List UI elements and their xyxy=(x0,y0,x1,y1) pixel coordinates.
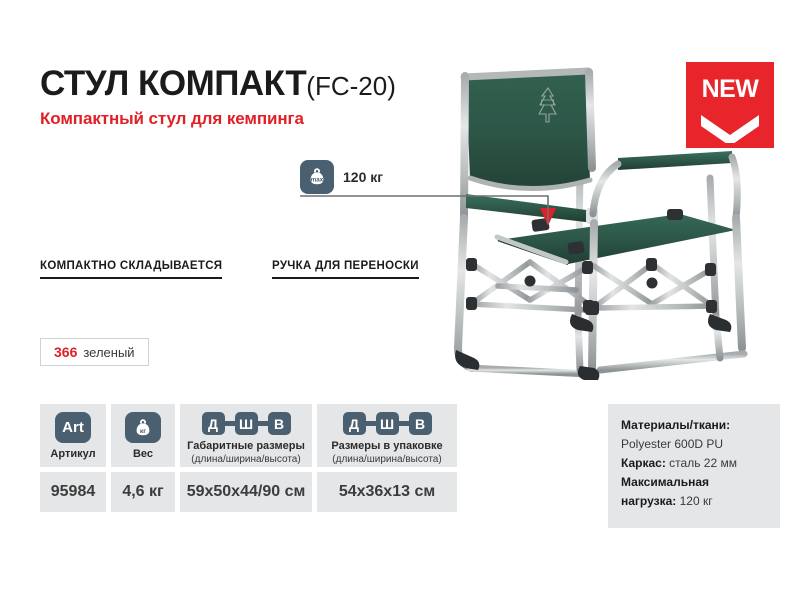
feature-label-carry-handle: РУЧКА ДЛЯ ПЕРЕНОСКИ xyxy=(272,260,419,279)
chair-base-rails xyxy=(470,318,744,374)
max-weight-icon: max xyxy=(300,160,334,194)
product-model: (FC-20) xyxy=(306,71,396,101)
spec-caption-dimensions-text: Габаритные размеры xyxy=(187,440,305,452)
chair-armrest-right xyxy=(618,151,732,170)
maxload-panel-value: 120 кг xyxy=(680,494,713,508)
dwh-link-1 xyxy=(366,421,376,426)
maxload-label-line1: Максимальная xyxy=(621,473,780,492)
color-code: 366 xyxy=(54,344,77,360)
spec-subcaption-packed: (длина/ширина/высота) xyxy=(331,454,442,466)
kettlebell-icon: кг xyxy=(125,412,161,443)
frame-value: сталь 22 мм xyxy=(669,456,737,470)
dwh-letter-length: Д xyxy=(202,412,225,435)
dwh-letter-height: В xyxy=(268,412,291,435)
chair-seat xyxy=(497,209,736,264)
new-badge: NEW xyxy=(686,62,774,148)
product-spec-sheet: СТУЛ КОМПАКТ(FC-20) Компактный стул для … xyxy=(0,0,800,600)
materials-panel: Материалы/ткани: Polyester 600D PU Карка… xyxy=(608,404,780,528)
dwh-link-2 xyxy=(258,421,268,426)
page-title: СТУЛ КОМПАКТ(FC-20) xyxy=(40,66,470,101)
materials-value: Polyester 600D PU xyxy=(621,435,780,454)
dwh-link-1 xyxy=(225,421,235,426)
spec-value-weight: 4,6 кг xyxy=(111,472,175,512)
spec-caption-article: Артикул xyxy=(50,448,95,461)
dwh-link-2 xyxy=(399,421,409,426)
spec-value-dimensions: 59x50x44/90 см xyxy=(180,472,312,512)
spec-header-article: Art Артикул xyxy=(40,404,106,467)
length-width-height-icon: Д Ш В xyxy=(202,412,291,435)
spec-table: Art Артикул кг Вес xyxy=(40,404,457,512)
weight-icon-text: кг xyxy=(140,427,146,434)
spec-value-packed: 54x36x13 см xyxy=(317,472,457,512)
max-load-callout: max 120 кг xyxy=(300,160,383,194)
dwh-letter-length: Д xyxy=(343,412,366,435)
spec-table-value-row: 95984 4,6 кг 59x50x44/90 см 54x36x13 см xyxy=(40,472,457,512)
spec-subcaption-dimensions: (длина/ширина/высота) xyxy=(187,454,305,466)
max-icon-text: max xyxy=(311,177,324,184)
color-name: зеленый xyxy=(83,345,134,360)
spec-caption-packed: Размеры в упаковке (длина/ширина/высота) xyxy=(331,440,442,465)
art-icon-text: Art xyxy=(62,419,84,436)
spec-header-packed: Д Ш В Размеры в упаковке (длина/ширина/в… xyxy=(317,404,457,467)
spec-header-weight: кг Вес xyxy=(111,404,175,467)
spec-caption-dimensions: Габаритные размеры (длина/ширина/высота) xyxy=(187,440,305,465)
spec-caption-packed-text: Размеры в упаковке xyxy=(331,440,442,452)
max-load-value: 120 кг xyxy=(343,169,383,185)
new-badge-label: NEW xyxy=(686,75,774,104)
feature-label-compact-folding: КОМПАКТНО СКЛАДЫВАЕТСЯ xyxy=(40,260,222,279)
kettlebell-glyph: max xyxy=(305,165,329,189)
art-icon: Art xyxy=(55,412,91,443)
materials-label: Материалы/ткани: xyxy=(621,416,780,435)
dwh-letter-height: В xyxy=(409,412,432,435)
maxload-line2: нагрузка: 120 кг xyxy=(621,492,780,511)
frame-label: Каркас: xyxy=(621,456,666,470)
chair-backrest xyxy=(464,71,590,189)
spec-caption-weight: Вес xyxy=(133,448,153,461)
product-name: СТУЛ КОМПАКТ xyxy=(40,64,306,103)
color-option-badge[interactable]: 366 зеленый xyxy=(40,338,149,366)
title-block: СТУЛ КОМПАКТ(FC-20) Компактный стул для … xyxy=(40,66,470,129)
spec-caption-weight-text: Вес xyxy=(133,448,153,460)
product-subtitle: Компактный стул для кемпинга xyxy=(40,109,470,129)
maxload-label-text-1: Максимальная xyxy=(621,475,709,489)
spec-table-header-row: Art Артикул кг Вес xyxy=(40,404,457,467)
length-width-height-icon: Д Ш В xyxy=(343,412,432,435)
dwh-letter-width: Ш xyxy=(235,412,258,435)
materials-label-text: Материалы/ткани: xyxy=(621,418,730,432)
chevron-down-icon xyxy=(699,113,761,143)
kettlebell-glyph: кг xyxy=(131,416,155,440)
frame-spec: Каркас: сталь 22 мм xyxy=(621,454,780,473)
dwh-letter-width: Ш xyxy=(376,412,399,435)
maxload-label-text-2: нагрузка: xyxy=(621,494,676,508)
spec-header-dimensions: Д Ш В Габаритные размеры (длина/ширина/в… xyxy=(180,404,312,467)
spec-value-article: 95984 xyxy=(40,472,106,512)
spec-caption-article-text: Артикул xyxy=(50,448,95,460)
